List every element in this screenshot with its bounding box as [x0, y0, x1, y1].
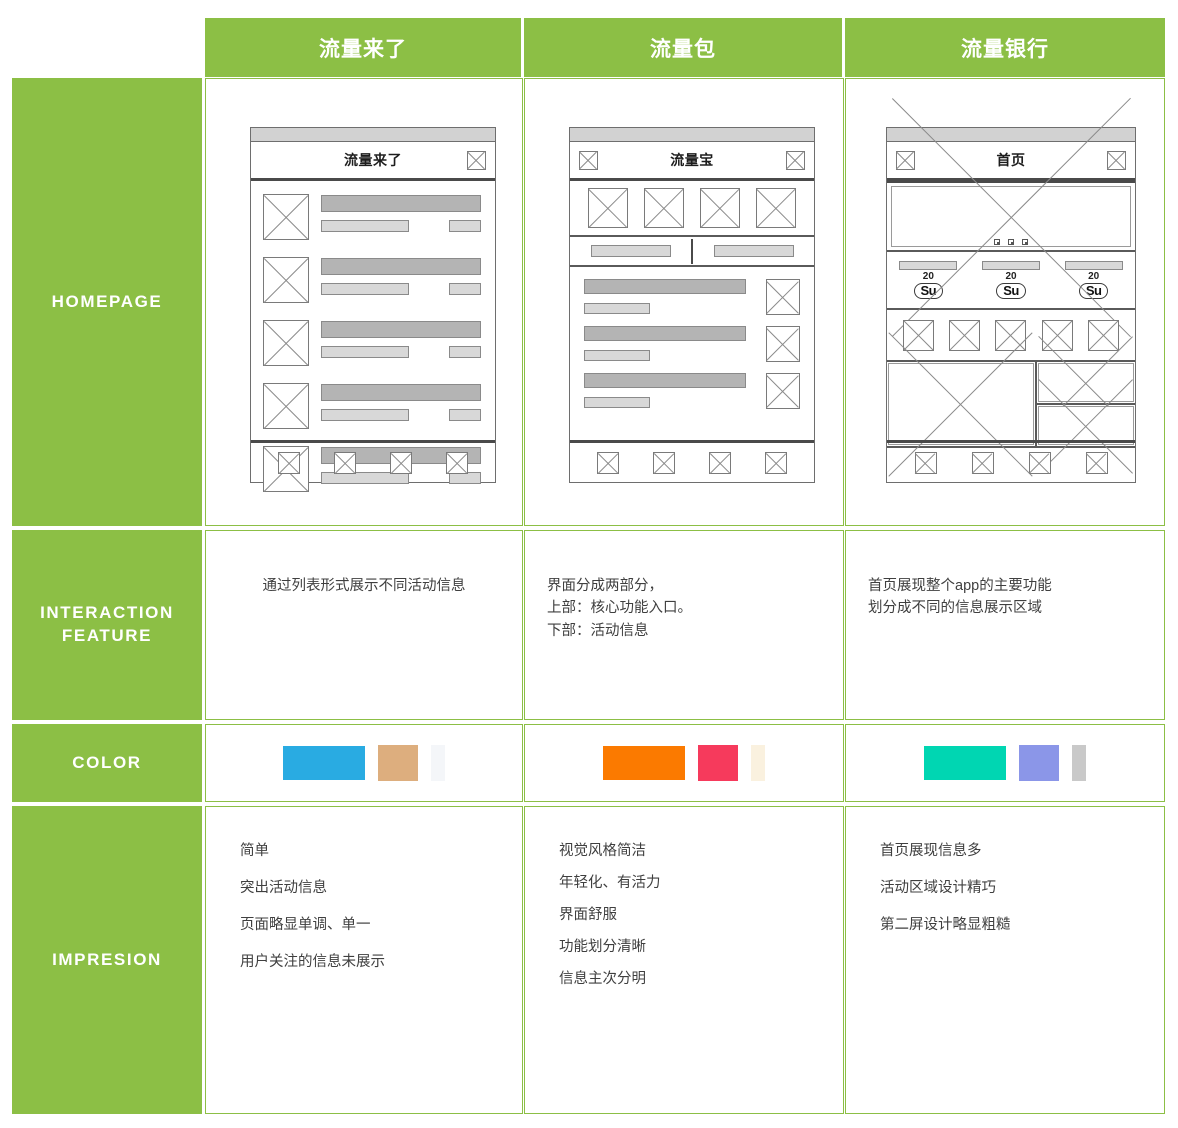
- column-header-liuliangbao: 流量包: [524, 18, 842, 77]
- carousel-dot[interactable]: [1022, 239, 1028, 245]
- promo-card-pill: Su: [914, 283, 944, 299]
- color-swatch: [378, 745, 418, 781]
- phone3-title: 首页: [997, 150, 1026, 170]
- column-header-liuliangyinhang: 流量银行: [845, 18, 1165, 77]
- placeholder-bar: [982, 261, 1040, 270]
- title-bar: 首页: [887, 142, 1135, 181]
- impression-line: 页面略显单调、单一: [240, 915, 488, 936]
- color-swatch: [924, 746, 1006, 780]
- column-header-row: 流量来了 流量包 流量银行: [0, 18, 1178, 77]
- impression-cell-col1: 简单 突出活动信息 页面略显单调、单一 用户关注的信息未展示: [205, 806, 523, 1114]
- bottom-nav-bar: [570, 440, 814, 482]
- homepage-cell-col3: 首页 20 Su 20 Su: [845, 78, 1165, 526]
- homepage-cell-col1: 流量来了: [205, 78, 523, 526]
- x-box-icon[interactable]: [278, 452, 300, 474]
- promo-card-number: 20: [1088, 271, 1099, 282]
- interaction-line: 下部：活动信息: [547, 620, 821, 642]
- impression-cell-col2: 视觉风格简洁 年轻化、有活力 界面舒服 功能划分清晰 信息主次分明: [524, 806, 844, 1114]
- impression-line: 用户关注的信息未展示: [240, 952, 488, 973]
- x-box-icon: [766, 326, 800, 362]
- item-subtitle-bar: [321, 220, 409, 232]
- color-swatch: [283, 746, 365, 780]
- color-swatch: [751, 745, 765, 781]
- row-label-interaction-feature: INTERACTION FEATURE: [12, 530, 202, 720]
- x-box-icon[interactable]: [700, 188, 740, 228]
- impression-line: 简单: [240, 841, 488, 862]
- color-swatch: [1019, 745, 1059, 781]
- item-tag-bar: [449, 346, 481, 358]
- list-container: [570, 267, 814, 420]
- item-title-bar: [321, 195, 481, 212]
- interaction-line: 首页展现整个app的主要功能: [868, 575, 1142, 597]
- impression-line: 突出活动信息: [240, 878, 488, 899]
- x-box-icon[interactable]: [644, 188, 684, 228]
- interaction-line: 通过列表形式展示不同活动信息: [228, 575, 500, 597]
- list-item[interactable]: [263, 313, 483, 376]
- x-box-icon[interactable]: [915, 452, 937, 474]
- impression-line: 活动区域设计精巧: [880, 878, 1130, 899]
- list-item[interactable]: [263, 376, 483, 439]
- carousel-dots: [887, 239, 1135, 245]
- grid-panel-stack: [1037, 362, 1135, 446]
- item-title-bar: [584, 373, 746, 388]
- x-box-icon: [1038, 363, 1134, 402]
- x-box-icon: [263, 320, 309, 366]
- color-swatch-group-col2: [525, 725, 843, 801]
- color-swatch: [698, 745, 738, 781]
- x-box-icon[interactable]: [786, 151, 805, 170]
- x-box-icon[interactable]: [995, 320, 1026, 351]
- interaction-text-col3: 首页展现整个app的主要功能 划分成不同的信息展示区域: [846, 575, 1164, 620]
- color-swatch-group-col3: [846, 725, 1164, 801]
- item-subtitle-bar: [321, 346, 409, 358]
- placeholder-bar: [591, 245, 671, 257]
- placeholder-bar: [899, 261, 957, 270]
- x-box-icon[interactable]: [1086, 452, 1108, 474]
- interaction-cell-col1: 通过列表形式展示不同活动信息: [205, 530, 523, 720]
- impression-line: 首页展现信息多: [880, 841, 1130, 862]
- item-subtitle-bar: [321, 283, 409, 295]
- status-bar: [570, 128, 814, 142]
- promo-card-number: 20: [1005, 271, 1016, 282]
- bottom-nav-bar: [887, 440, 1135, 482]
- color-swatch-group-col1: [206, 725, 522, 801]
- impression-list-col3: 首页展现信息多 活动区域设计精巧 第二屏设计略显粗糙: [846, 841, 1164, 952]
- impression-line: 第二屏设计略显粗糙: [880, 915, 1130, 936]
- list-item[interactable]: [263, 187, 483, 250]
- x-box-icon[interactable]: [765, 452, 787, 474]
- banner-carousel[interactable]: [887, 181, 1135, 252]
- item-subtitle-bar: [584, 350, 650, 361]
- item-title-bar: [321, 321, 481, 338]
- x-box-icon[interactable]: [1088, 320, 1119, 351]
- split-entry-row: [570, 237, 814, 267]
- x-box-icon[interactable]: [390, 452, 412, 474]
- list-item[interactable]: [584, 279, 800, 326]
- phone2-title: 流量宝: [670, 150, 714, 170]
- promo-card[interactable]: 20 Su: [970, 252, 1053, 308]
- impression-line: 年轻化、有活力: [559, 873, 809, 894]
- x-box-icon: [888, 363, 1034, 445]
- content-grid: [887, 362, 1135, 448]
- impression-list-col2: 视觉风格简洁 年轻化、有活力 界面舒服 功能划分清晰 信息主次分明: [525, 841, 843, 1001]
- color-cell-col3: [845, 724, 1165, 802]
- promo-card-row: 20 Su 20 Su 20 Su: [887, 252, 1135, 310]
- list-item[interactable]: [584, 373, 800, 420]
- impression-line: 功能划分清晰: [559, 937, 809, 958]
- interaction-line: 界面分成两部分，: [547, 575, 821, 597]
- x-box-icon[interactable]: [1029, 452, 1051, 474]
- x-box-icon[interactable]: [709, 452, 731, 474]
- split-cell-left[interactable]: [570, 245, 691, 257]
- comparison-matrix: 流量来了 流量包 流量银行 HOMEPAGE INTERACTION FEATU…: [0, 0, 1178, 1128]
- interaction-cell-col2: 界面分成两部分， 上部：核心功能入口。 下部：活动信息: [524, 530, 844, 720]
- list-item[interactable]: [584, 326, 800, 373]
- x-box-icon[interactable]: [756, 188, 796, 228]
- interaction-line: 划分成不同的信息展示区域: [868, 597, 1142, 619]
- x-box-icon[interactable]: [1107, 151, 1126, 170]
- color-cell-col1: [205, 724, 523, 802]
- carousel-dot[interactable]: [994, 239, 1000, 245]
- item-tag-bar: [449, 220, 481, 232]
- x-box-icon[interactable]: [334, 452, 356, 474]
- x-box-icon[interactable]: [446, 452, 468, 474]
- status-bar: [251, 128, 495, 142]
- column-header-liuliangliaole: 流量来了: [205, 18, 521, 77]
- interaction-line: 上部：核心功能入口。: [547, 597, 821, 619]
- title-bar: 流量来了: [251, 142, 495, 181]
- x-box-icon: [263, 383, 309, 429]
- grid-panel-small[interactable]: [1037, 362, 1135, 405]
- row-label-color: COLOR: [12, 724, 202, 802]
- promo-card-pill: Su: [996, 283, 1026, 299]
- x-box-icon[interactable]: [903, 320, 934, 351]
- list-item[interactable]: [263, 250, 483, 313]
- x-box-icon[interactable]: [653, 452, 675, 474]
- carousel-dot[interactable]: [1008, 239, 1014, 245]
- color-swatch: [431, 745, 445, 781]
- item-title-bar: [584, 326, 746, 341]
- split-cell-right[interactable]: [693, 245, 814, 257]
- item-subtitle-bar: [584, 397, 650, 408]
- color-swatch: [1072, 745, 1086, 781]
- item-subtitle-bar: [321, 409, 409, 421]
- color-swatch: [603, 746, 685, 780]
- row-label-homepage: HOMEPAGE: [12, 78, 202, 526]
- interaction-text-col1: 通过列表形式展示不同活动信息: [206, 575, 522, 597]
- x-box-icon[interactable]: [579, 151, 598, 170]
- grid-panel-large[interactable]: [887, 362, 1037, 446]
- item-title-bar: [321, 258, 481, 275]
- item-tag-bar: [449, 409, 481, 421]
- title-bar: 流量宝: [570, 142, 814, 181]
- item-tag-bar: [449, 283, 481, 295]
- placeholder-bar: [1065, 261, 1123, 270]
- item-title-bar: [584, 279, 746, 294]
- interaction-text-col2: 界面分成两部分， 上部：核心功能入口。 下部：活动信息: [525, 575, 843, 642]
- x-box-icon: [766, 279, 800, 315]
- wireframe-phone-2: 流量宝: [569, 127, 815, 483]
- item-subtitle-bar: [584, 303, 650, 314]
- wireframe-phone-3: 首页 20 Su 20 Su: [886, 127, 1136, 483]
- x-box-icon: [263, 194, 309, 240]
- impression-line: 视觉风格简洁: [559, 841, 809, 862]
- x-box-icon[interactable]: [597, 452, 619, 474]
- bottom-nav-bar: [251, 440, 495, 482]
- row-label-impresion: IMPRESION: [12, 806, 202, 1114]
- x-box-icon: [891, 186, 1131, 247]
- x-box-icon: [263, 257, 309, 303]
- homepage-cell-col2: 流量宝: [524, 78, 844, 526]
- interaction-cell-col3: 首页展现整个app的主要功能 划分成不同的信息展示区域: [845, 530, 1165, 720]
- impression-line: 信息主次分明: [559, 969, 809, 990]
- x-box-icon[interactable]: [467, 151, 486, 170]
- impression-cell-col3: 首页展现信息多 活动区域设计精巧 第二屏设计略显粗糙: [845, 806, 1165, 1114]
- x-box-icon[interactable]: [949, 320, 980, 351]
- icon-grid-row: [570, 181, 814, 237]
- x-box-icon[interactable]: [896, 151, 915, 170]
- item-title-bar: [321, 384, 481, 401]
- x-box-icon: [766, 373, 800, 409]
- x-box-icon[interactable]: [972, 452, 994, 474]
- color-cell-col2: [524, 724, 844, 802]
- impression-line: 界面舒服: [559, 905, 809, 926]
- impression-list-col1: 简单 突出活动信息 页面略显单调、单一 用户关注的信息未展示: [206, 841, 522, 989]
- wireframe-phone-1: 流量来了: [250, 127, 496, 483]
- placeholder-bar: [714, 245, 794, 257]
- phone1-title: 流量来了: [344, 150, 402, 170]
- x-box-icon[interactable]: [588, 188, 628, 228]
- promo-card-number: 20: [923, 271, 934, 282]
